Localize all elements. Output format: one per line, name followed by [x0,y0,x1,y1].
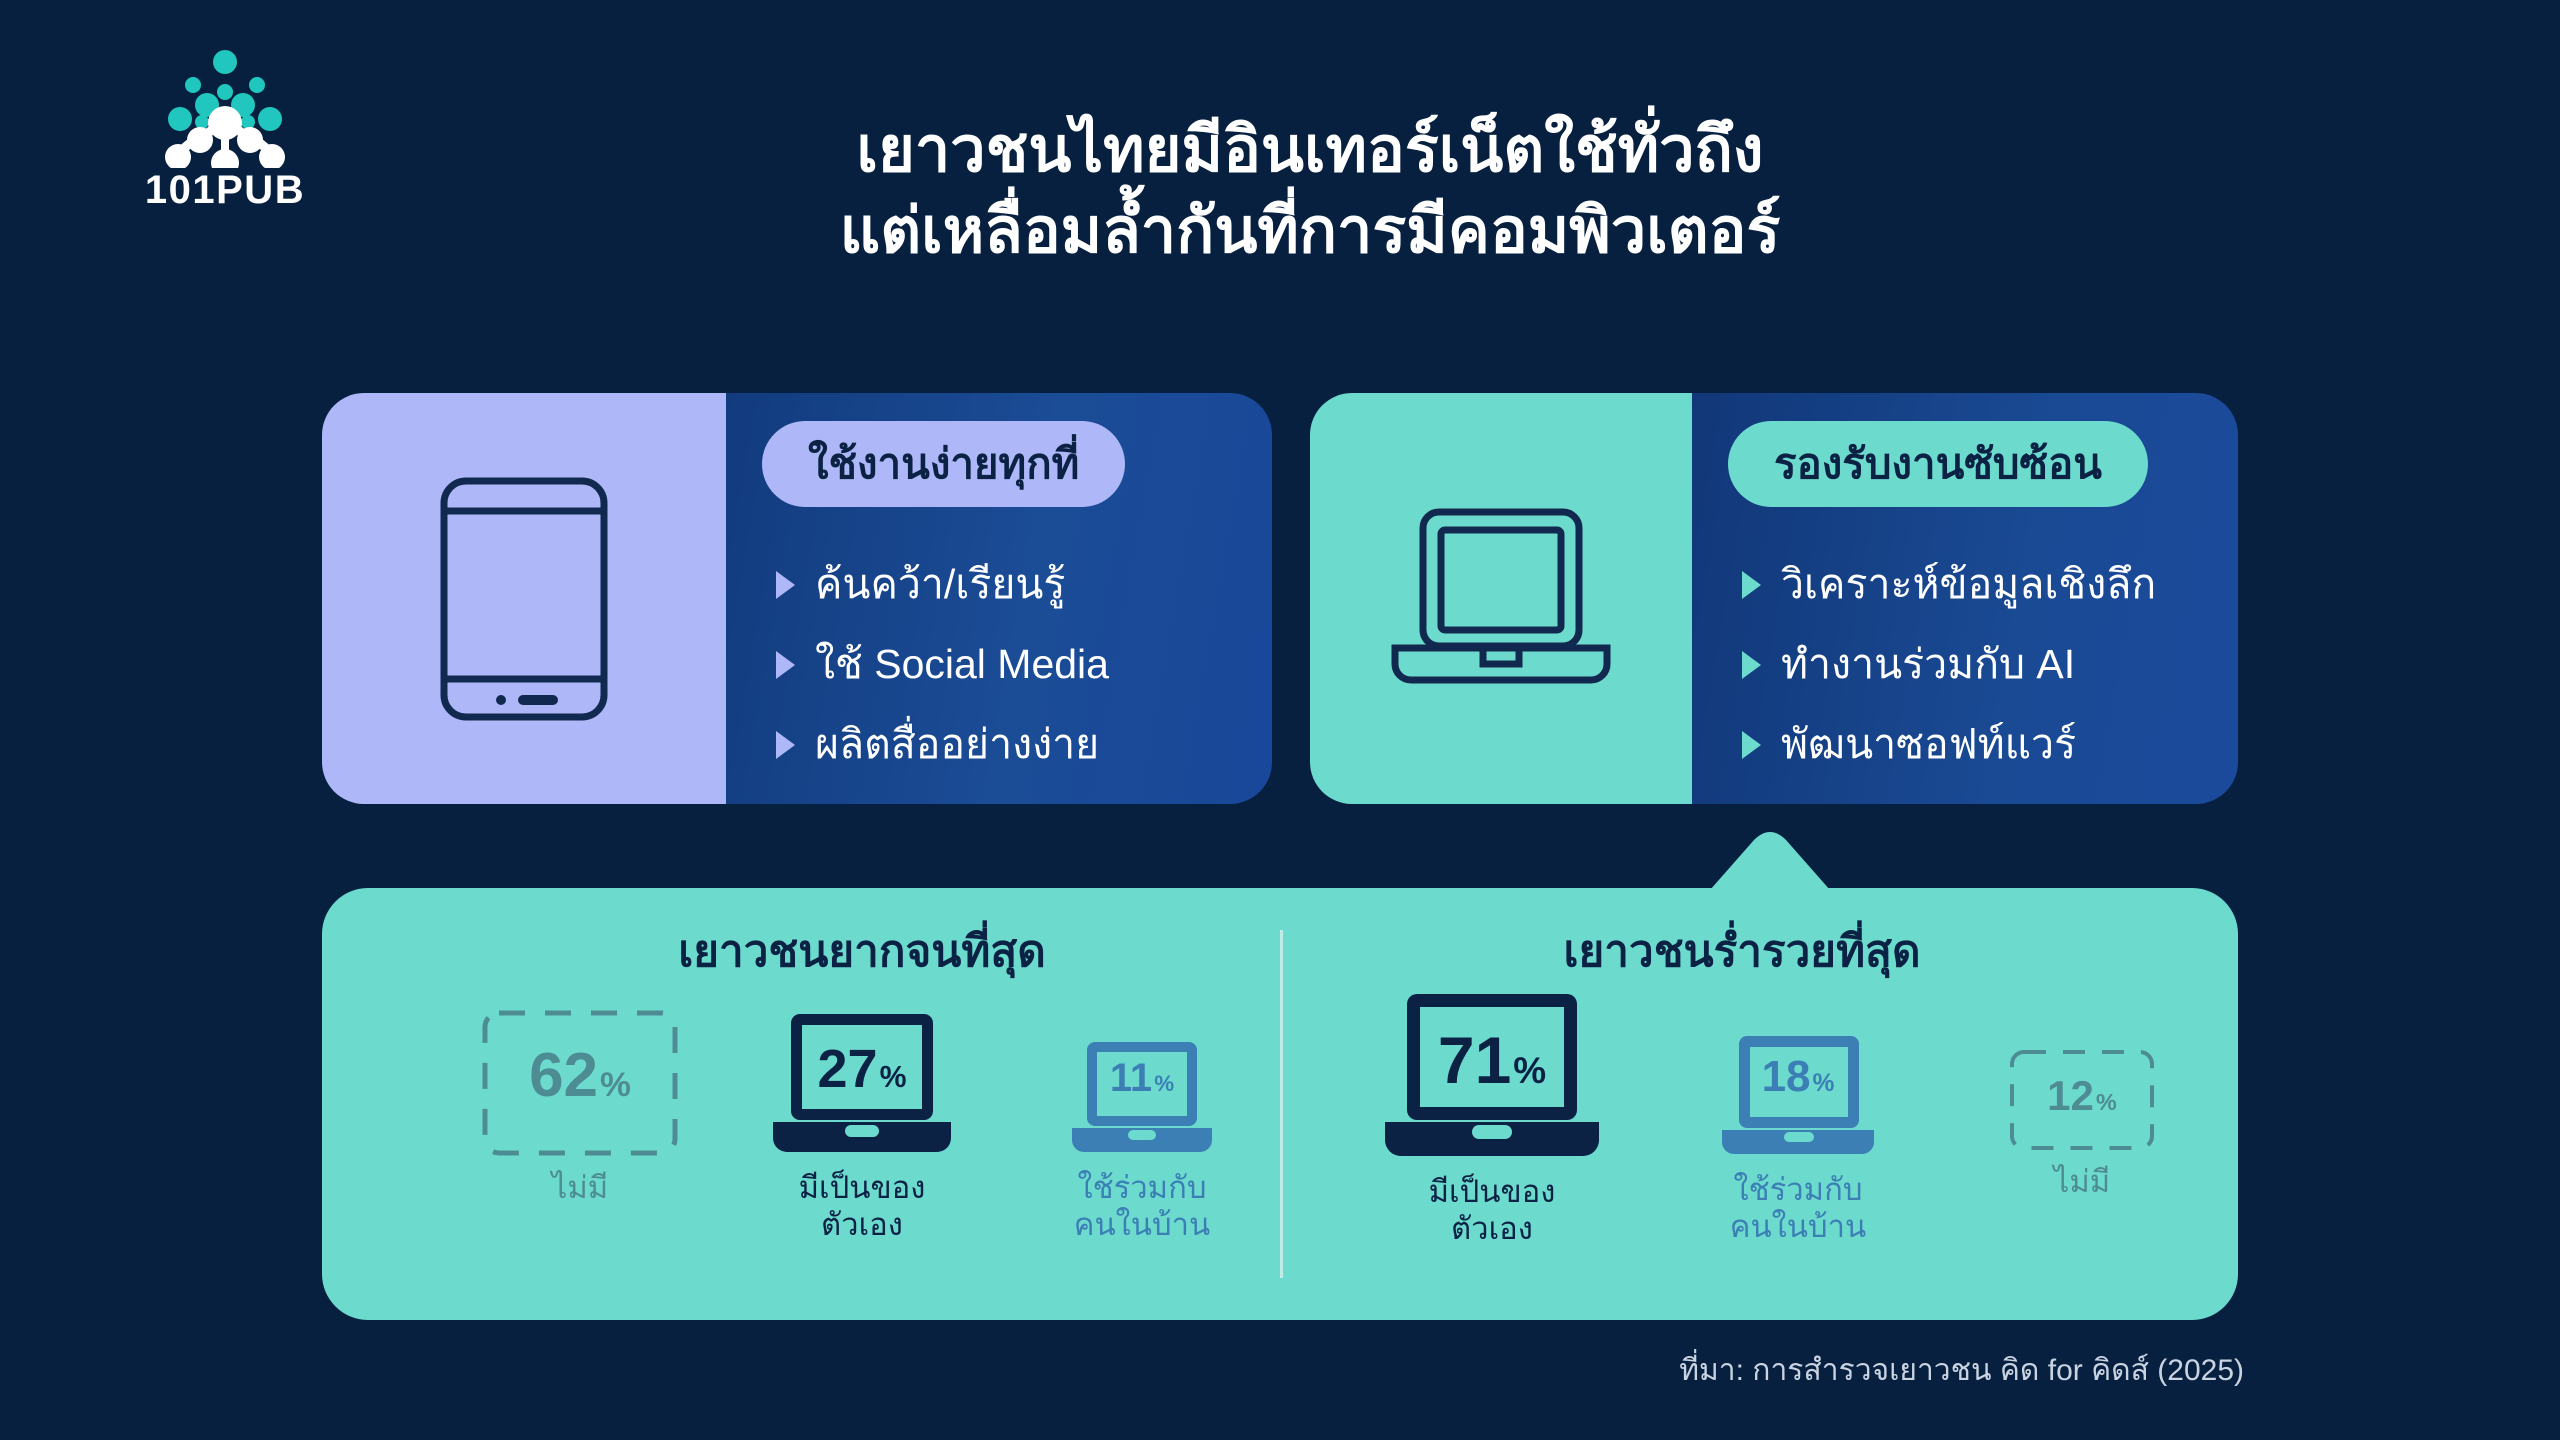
phone-card-bullets: ค้นคว้า/เรียนรู้ ใช้ Social Media ผลิตสื… [776,553,1252,793]
stats-panel: เยาวชนยากจนที่สุด เยาวชนร่ำรวยที่สุด 62%… [322,888,2238,1320]
triangle-bullet-icon [776,651,795,679]
bullet-label: วิเคราะห์ข้อมูลเชิงลึก [1781,553,2156,615]
stat-rich-none: 12% ไม่มี [1962,1048,2202,1201]
stat-label: มีเป็นของ ตัวเอง [732,1170,992,1243]
stat-value: 71% [1342,1022,1642,1098]
stat-label: ใช้ร่วมกับ คนในบ้าน [1658,1172,1938,1245]
smartphone-icon [438,475,610,723]
stat-rich-shared: 18% ใช้ร่วมกับ คนในบ้าน [1658,1030,1938,1245]
triangle-bullet-icon [1742,651,1761,679]
page-title: เยาวชนไทยมีอินเทอร์เน็ตใช้ทั่วถึง แต่เหล… [560,110,2060,271]
stat-icon-wrap: 62% [450,1008,710,1158]
network-nodes-logo-icon [110,40,340,168]
group-title-poor: เยาวชนยากจนที่สุด [442,916,1282,986]
phone-icon-pane [322,393,726,804]
laptop-icon [1383,506,1619,692]
list-item: วิเคราะห์ข้อมูลเชิงลึก [1742,553,2218,615]
stat-icon-wrap: 18% [1658,1030,1938,1160]
stat-label: มีเป็นของ ตัวเอง [1342,1174,1642,1247]
list-item: ผลิตสื่ออย่างง่าย [776,713,1252,775]
stat-value: 27% [732,1038,992,1100]
phone-card-body: ใช้งานง่ายทุกที่ ค้นคว้า/เรียนรู้ ใช้ So… [726,393,1272,804]
stat-label: ไม่มี [450,1170,710,1207]
stat-value: 12% [1962,1072,2202,1120]
stat-value: 18% [1658,1052,1938,1102]
group-title-rich: เยาวชนร่ำรวยที่สุด [1322,916,2162,986]
logo: 101PUB [110,40,340,215]
stat-label: ใช้ร่วมกับ คนในบ้าน [1012,1170,1272,1243]
stat-icon-wrap: 71% [1342,992,1642,1162]
panel-pointer [1710,828,1830,890]
title-line-2: แต่เหลื่อมล้ำกันที่การมีคอมพิวเตอร์ [560,191,2060,272]
triangle-bullet-icon [1742,571,1761,599]
source-note: ที่มา: การสำรวจเยาวชน คิด for คิดส์ (202… [1679,1347,2244,1394]
bullet-label: ใช้ Social Media [815,633,1109,695]
stat-icon-wrap: 12% [1962,1048,2202,1152]
laptop-card-body: รองรับงานซับซ้อน วิเคราะห์ข้อมูลเชิงลึก … [1692,393,2238,804]
triangle-bullet-icon [776,571,795,599]
stat-value: 11% [1012,1056,1272,1101]
laptop-card-pill: รองรับงานซับซ้อน [1728,421,2148,507]
list-item: ค้นคว้า/เรียนรู้ [776,553,1252,615]
feature-card-laptop: รองรับงานซับซ้อน วิเคราะห์ข้อมูลเชิงลึก … [1310,393,2238,804]
list-item: พัฒนาซอฟท์แวร์ [1742,713,2218,775]
title-line-1: เยาวชนไทยมีอินเทอร์เน็ตใช้ทั่วถึง [560,110,2060,191]
logo-text: 101PUB [110,168,340,213]
bullet-label: ค้นคว้า/เรียนรู้ [815,553,1065,615]
stat-rich-own: 71% มีเป็นของ ตัวเอง [1342,992,1642,1247]
bullet-label: พัฒนาซอฟท์แวร์ [1781,713,2076,775]
laptop-card-bullets: วิเคราะห์ข้อมูลเชิงลึก ทำงานร่วมกับ AI พ… [1742,553,2218,793]
list-item: ใช้ Social Media [776,633,1252,695]
laptop-icon-pane [1310,393,1692,804]
bullet-label: ทำงานร่วมกับ AI [1781,633,2075,695]
stat-label: ไม่มี [1962,1164,2202,1201]
panel-divider [1280,930,1283,1278]
stat-value: 62% [450,1040,710,1111]
triangle-bullet-icon [776,731,795,759]
stat-poor-shared: 11% ใช้ร่วมกับ คนในบ้าน [1012,1036,1272,1243]
phone-card-pill: ใช้งานง่ายทุกที่ [762,421,1125,507]
triangle-bullet-icon [1742,731,1761,759]
list-item: ทำงานร่วมกับ AI [1742,633,2218,695]
stat-poor-none: 62% ไม่มี [450,1008,710,1207]
feature-card-phone: ใช้งานง่ายทุกที่ ค้นคว้า/เรียนรู้ ใช้ So… [322,393,1272,804]
stat-icon-wrap: 11% [1012,1036,1272,1158]
stat-poor-own: 27% มีเป็นของ ตัวเอง [732,1012,992,1243]
triangle-pointer-icon [1710,828,1830,890]
stat-icon-wrap: 27% [732,1012,992,1158]
bullet-label: ผลิตสื่ออย่างง่าย [815,713,1099,775]
